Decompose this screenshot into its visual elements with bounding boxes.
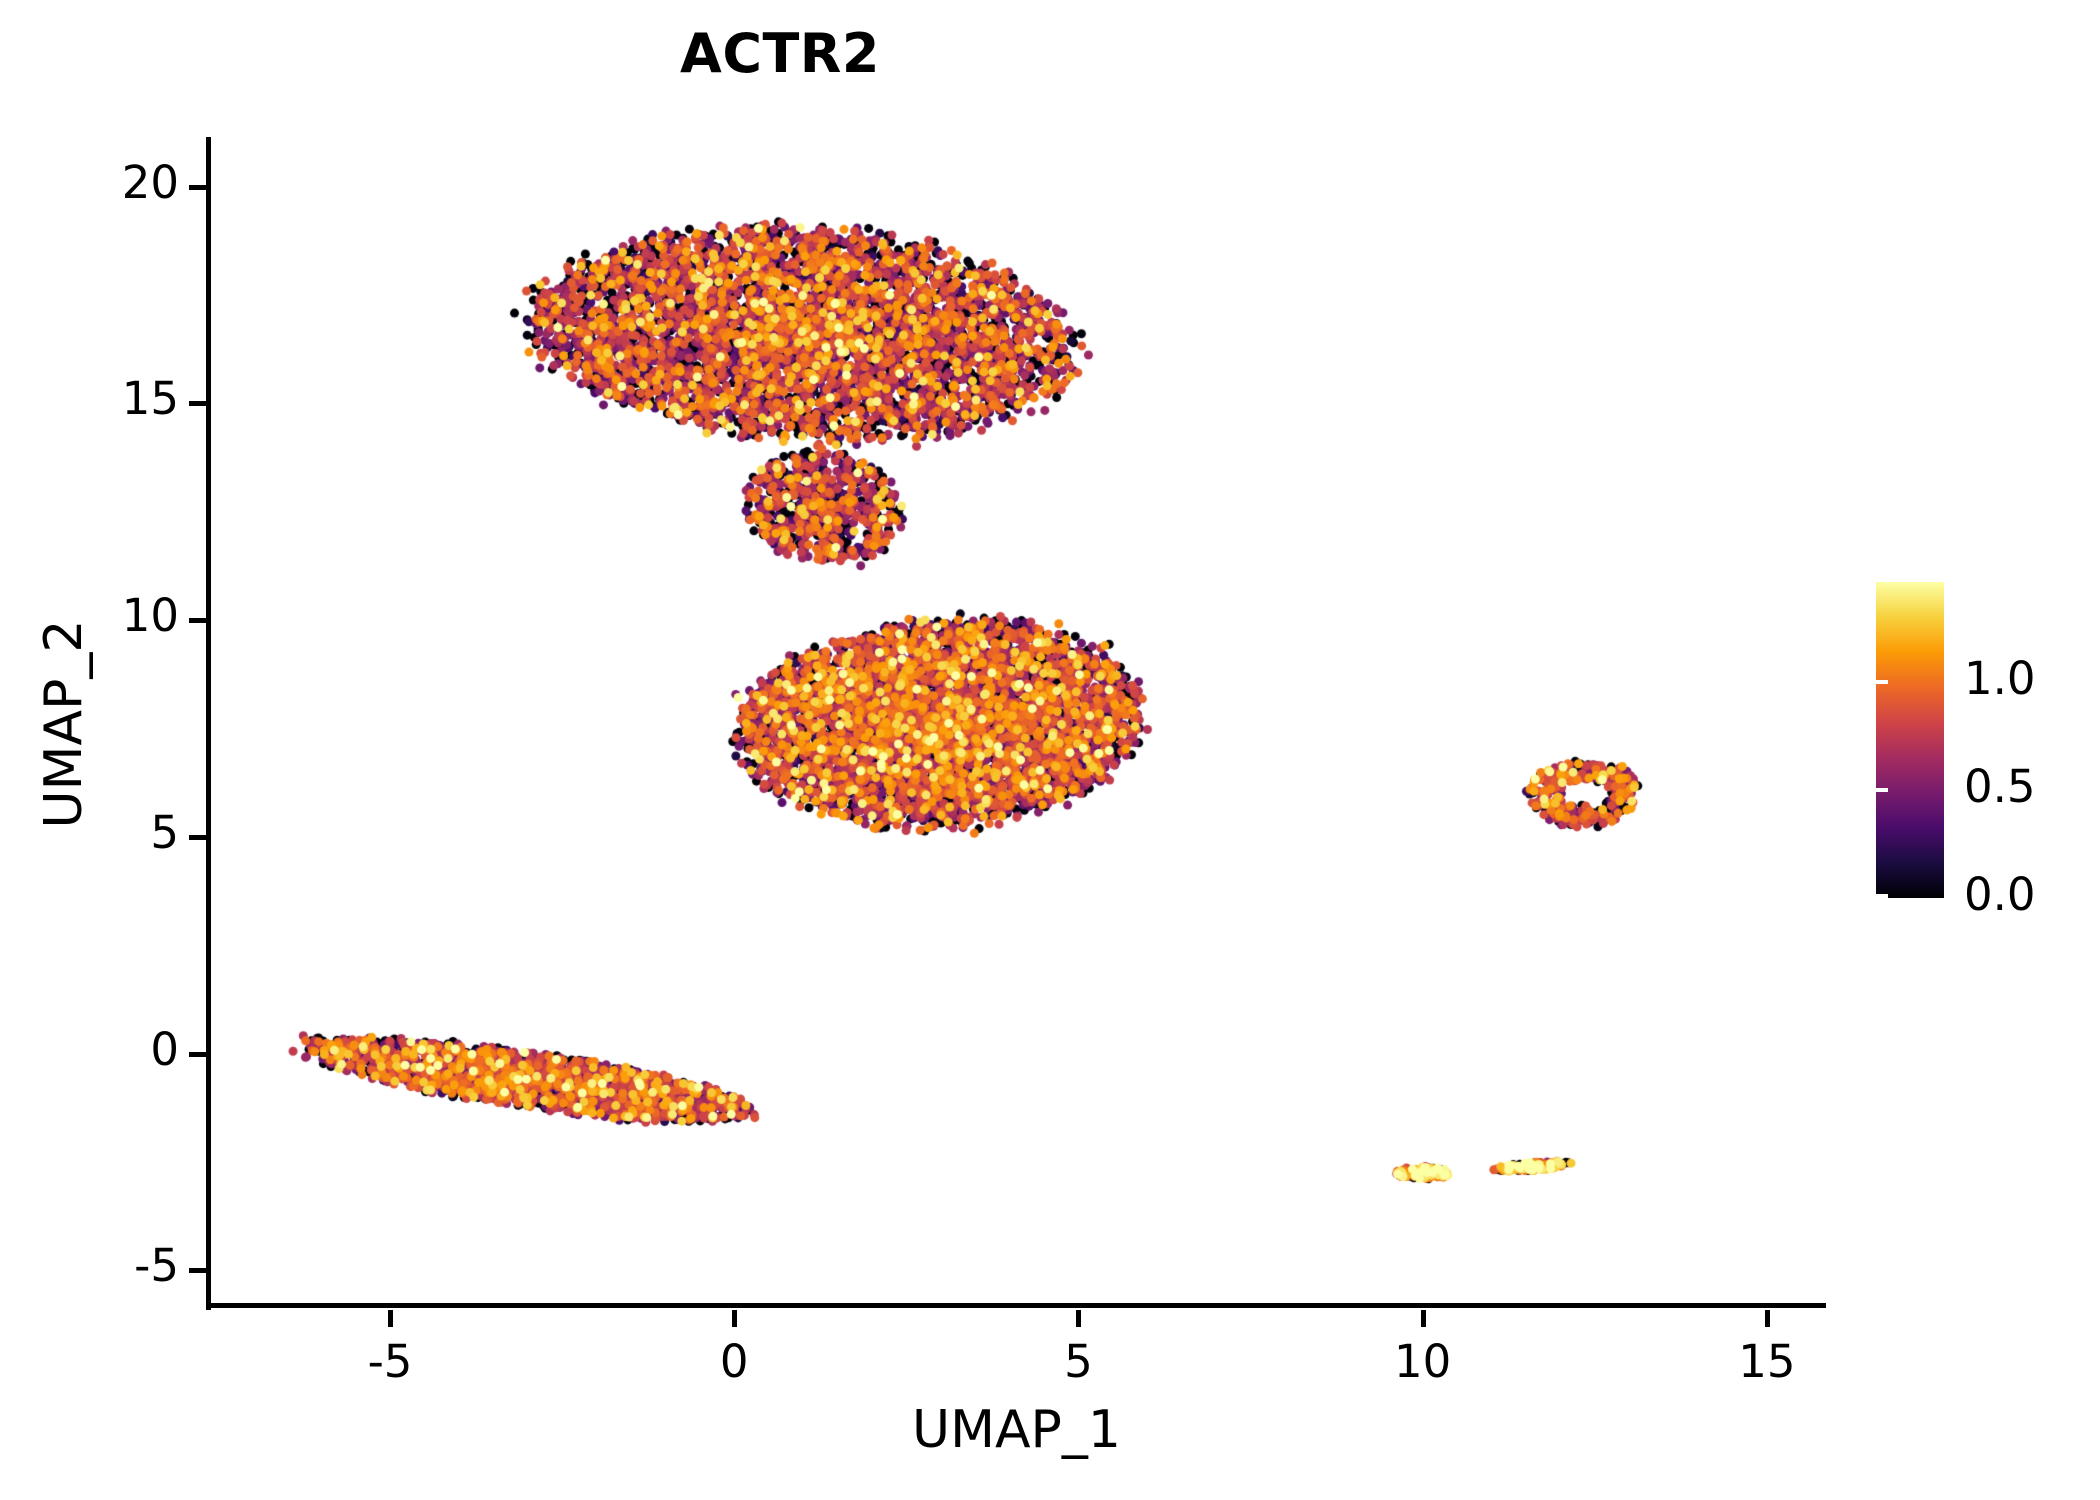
y-tick-mark [189,1268,206,1273]
colorbar-gradient [1876,582,1944,898]
x-tick-label: 15 [1667,1335,1867,1388]
y-tick-mark [189,185,206,190]
y-tick-label: 15 [11,372,179,425]
scatter-plot-area [211,139,1822,1305]
x-tick-mark [732,1310,737,1327]
y-tick-mark [189,835,206,840]
colorbar-tick-mark [2084,894,2096,898]
y-tick-label: 0 [11,1023,179,1076]
scatter-points-layer [211,139,1822,1305]
x-tick-mark [1421,1310,1426,1327]
colorbar-tick-mark [1876,680,1888,684]
colorbar-tick-label: 0.0 [1964,868,2036,921]
y-axis-spine [206,137,211,1310]
colorbar-tick-mark [1876,788,1888,792]
figure-canvas: ACTR2 20151050-5 -5051015 UMAP_1 UMAP_2 … [0,0,2100,1500]
y-tick-mark [189,618,206,623]
colorbar-tick-label: 0.5 [1964,760,2036,813]
y-tick-label: -5 [11,1239,179,1292]
x-tick-mark [1765,1310,1770,1327]
y-tick-mark [189,401,206,406]
colorbar: 0.00.51.0 [1876,582,2096,902]
colorbar-tick-label: 1.0 [1964,652,2036,705]
y-tick-label: 20 [11,156,179,209]
x-tick-label: -5 [290,1335,490,1388]
colorbar-tick-mark [2084,788,2096,792]
y-tick-mark [189,1052,206,1057]
x-axis-label: UMAP_1 [211,1400,1822,1460]
x-axis-spine [206,1303,1826,1308]
x-tick-label: 10 [1323,1335,1523,1388]
x-tick-mark [388,1310,393,1327]
colorbar-tick-mark [1876,894,1888,898]
y-axis-label: UMAP_2 [34,424,94,1024]
x-tick-label: 0 [634,1335,834,1388]
x-tick-label: 5 [978,1335,1178,1388]
page-title: ACTR2 [0,22,1560,85]
x-tick-mark [1076,1310,1081,1327]
colorbar-tick-mark [2084,680,2096,684]
